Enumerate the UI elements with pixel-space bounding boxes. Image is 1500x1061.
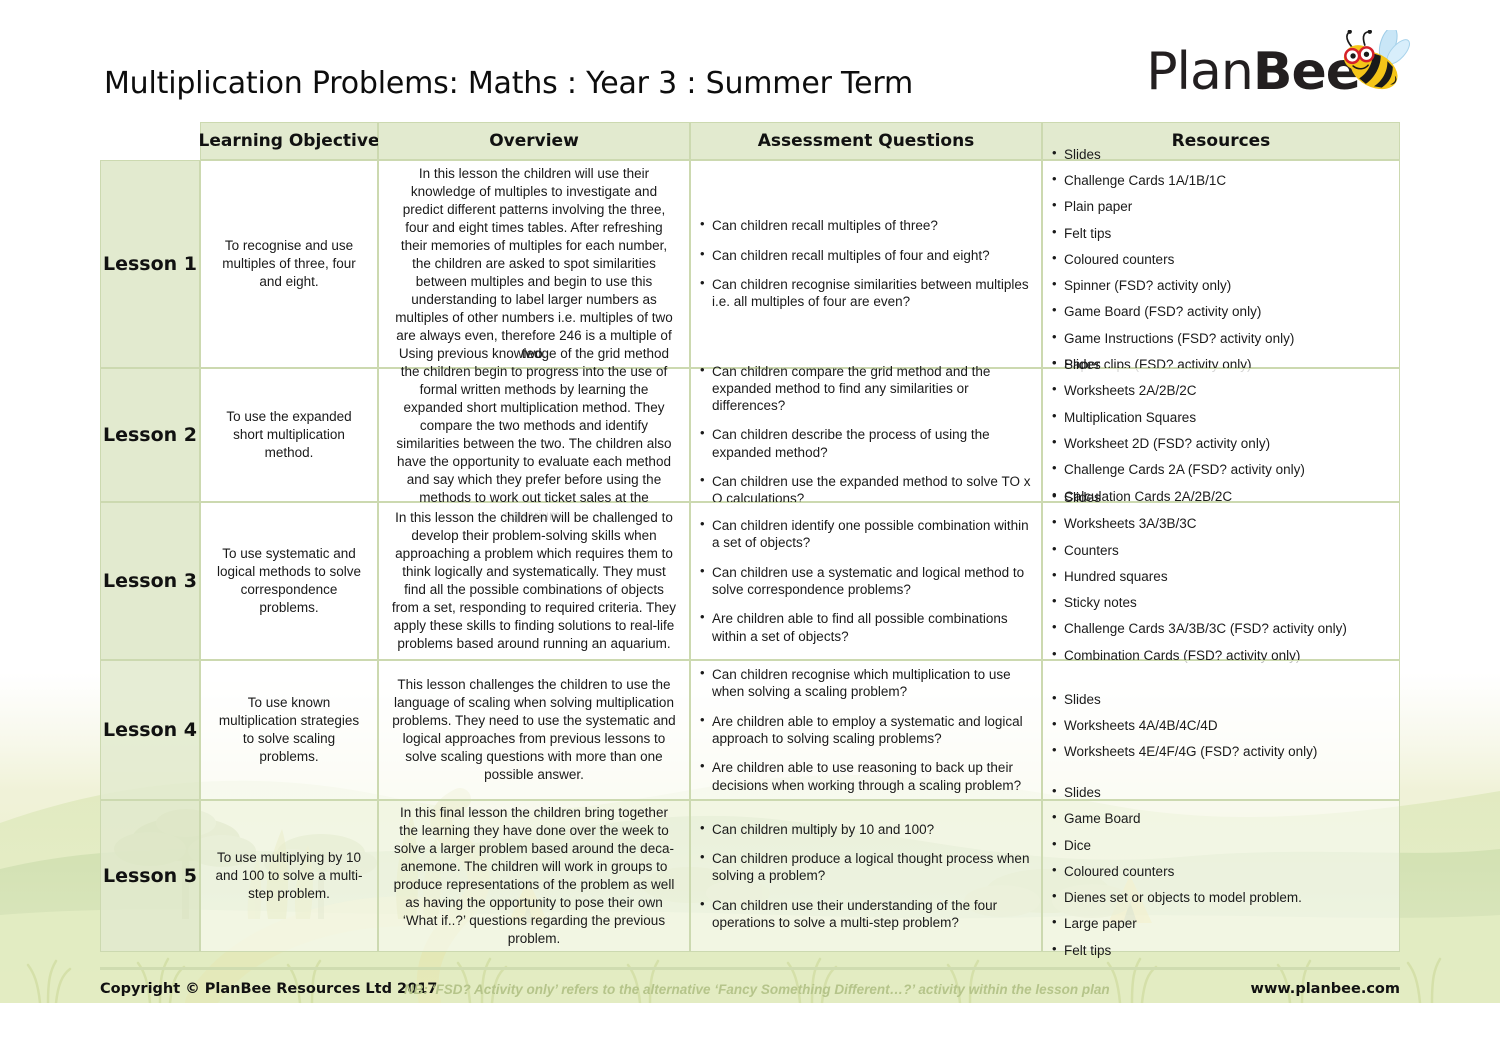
lesson-label: Lesson 5 — [103, 865, 197, 887]
overview-cell: In this lesson the children will use the… — [378, 160, 690, 368]
list-item: Dienes set or objects to model problem. — [1051, 889, 1389, 906]
list-item: Are children able to employ a systematic… — [699, 713, 1031, 748]
list-item: Slides — [1051, 489, 1389, 506]
list-item: Are children able to use reasoning to ba… — [699, 759, 1031, 794]
list-item: Worksheets 2A/2B/2C — [1051, 382, 1389, 399]
lesson-overview-table: Learning Objective Overview Assessment Q… — [100, 122, 1400, 952]
learning-objective-cell: To use known multiplication strategies t… — [200, 660, 378, 800]
table-row: Lesson 1 To recognise and use multiples … — [100, 160, 1400, 368]
resources-cell: Slides Worksheets 4A/4B/4C/4D Worksheets… — [1042, 660, 1400, 800]
lesson-label: Lesson 2 — [103, 424, 197, 446]
table-row: Lesson 5 To use multiplying by 10 and 10… — [100, 800, 1400, 952]
list-item: Sticky notes — [1051, 594, 1389, 611]
list-item: Can children use a systematic and logica… — [699, 564, 1031, 599]
copyright-text: Copyright © PlanBee Resources Ltd 2017 — [100, 981, 437, 997]
overview-cell: In this lesson the children will be chal… — [378, 502, 690, 660]
resources-list: Slides Worksheets 3A/3B/3C Counters Hund… — [1051, 489, 1389, 673]
list-item: Can children describe the process of usi… — [699, 426, 1031, 461]
lesson-number-cell: Lesson 2 — [100, 368, 200, 502]
resources-list: Slides Game Board Dice Coloured counters… — [1051, 784, 1389, 968]
page-footer: Copyright © PlanBee Resources Ltd 2017 N… — [0, 977, 1500, 1011]
overview-text: In this final lesson the children bring … — [391, 804, 677, 949]
overview-text: In this lesson the children will use the… — [391, 165, 677, 364]
table-row: Lesson 4 To use known multiplication str… — [100, 660, 1400, 800]
learning-objective-cell: To use systematic and logical methods to… — [200, 502, 378, 660]
list-item: Plain paper — [1051, 198, 1389, 215]
list-item: Coloured counters — [1051, 863, 1389, 880]
lesson-number-cell: Lesson 4 — [100, 660, 200, 800]
learning-objective-text: To use systematic and logical methods to… — [213, 545, 365, 617]
assessment-questions-cell: Can children identify one possible combi… — [690, 502, 1042, 660]
column-header-label: Overview — [489, 131, 579, 151]
assessment-questions-list: Can children recall multiples of three? … — [699, 217, 1031, 310]
resources-cell: Slides Challenge Cards 1A/1B/1C Plain pa… — [1042, 160, 1400, 368]
list-item: Slides — [1051, 784, 1389, 801]
list-item: Spinner (FSD? activity only) — [1051, 277, 1389, 294]
lesson-number-cell: Lesson 1 — [100, 160, 200, 368]
list-item: Game Board (FSD? activity only) — [1051, 303, 1389, 320]
list-item: Can children recognise which multiplicat… — [699, 666, 1031, 701]
list-item: Felt tips — [1051, 225, 1389, 242]
bee-icon — [1336, 30, 1412, 102]
page-title: Multiplication Problems: Maths : Year 3 … — [104, 66, 913, 101]
list-item: Challenge Cards 1A/1B/1C — [1051, 172, 1389, 189]
resources-cell: Slides Game Board Dice Coloured counters… — [1042, 800, 1400, 952]
learning-objective-cell: To recognise and use multiples of three,… — [200, 160, 378, 368]
planbee-logo: PlanBee — [1142, 30, 1412, 136]
overview-text: This lesson challenges the children to u… — [391, 676, 677, 784]
list-item: Can children multiply by 10 and 100? — [699, 821, 1031, 838]
resources-cell: Slides Worksheets 3A/3B/3C Counters Hund… — [1042, 502, 1400, 660]
page-header: Multiplication Problems: Maths : Year 3 … — [0, 58, 1500, 120]
learning-objective-cell: To use multiplying by 10 and 100 to solv… — [200, 800, 378, 952]
resources-cell: Slides Worksheets 2A/2B/2C Multiplicatio… — [1042, 368, 1400, 502]
overview-text: Using previous knowledge of the grid met… — [391, 345, 677, 526]
lesson-label: Lesson 1 — [103, 253, 197, 275]
column-header-learning-objective: Learning Objective — [200, 122, 378, 160]
list-item: Slides — [1051, 691, 1389, 708]
lesson-plan-page: Multiplication Problems: Maths : Year 3 … — [0, 0, 1500, 1061]
list-item: Hundred squares — [1051, 568, 1389, 585]
fsd-note-text: NB: ‘FSD? Activity only’ refers to the a… — [404, 982, 1110, 997]
list-item: Dice — [1051, 837, 1389, 854]
header-spacer-cell — [100, 122, 200, 160]
lesson-label: Lesson 4 — [103, 719, 197, 741]
list-item: Worksheet 2D (FSD? activity only) — [1051, 435, 1389, 452]
table-row: Lesson 2 To use the expanded short multi… — [100, 368, 1400, 502]
logo-text-plan: Plan — [1146, 42, 1253, 102]
list-item: Worksheets 4A/4B/4C/4D — [1051, 717, 1389, 734]
column-header-overview: Overview — [378, 122, 690, 160]
resources-list: Slides Challenge Cards 1A/1B/1C Plain pa… — [1051, 146, 1389, 382]
list-item: Can children recall multiples of four an… — [699, 247, 1031, 264]
overview-cell: In this final lesson the children bring … — [378, 800, 690, 952]
assessment-questions-cell: Can children compare the grid method and… — [690, 368, 1042, 502]
list-item: Can children recognise similarities betw… — [699, 276, 1031, 311]
overview-text: In this lesson the children will be chal… — [391, 509, 677, 654]
list-item: Challenge Cards 2A (FSD? activity only) — [1051, 461, 1389, 478]
lesson-number-cell: Lesson 3 — [100, 502, 200, 660]
assessment-questions-list: Can children compare the grid method and… — [699, 363, 1031, 508]
list-item: Counters — [1051, 542, 1389, 559]
list-item: Challenge Cards 3A/3B/3C (FSD? activity … — [1051, 620, 1389, 637]
assessment-questions-cell: Can children recognise which multiplicat… — [690, 660, 1042, 800]
assessment-questions-list: Can children recognise which multiplicat… — [699, 666, 1031, 794]
list-item: Game Instructions (FSD? activity only) — [1051, 330, 1389, 347]
resources-list: Slides Worksheets 4A/4B/4C/4D Worksheets… — [1051, 691, 1389, 770]
list-item: Can children recall multiples of three? — [699, 217, 1031, 234]
list-item: Slides — [1051, 146, 1389, 163]
list-item: Are children able to find all possible c… — [699, 610, 1031, 645]
list-item: Can children identify one possible combi… — [699, 517, 1031, 552]
assessment-questions-cell: Can children multiply by 10 and 100? Can… — [690, 800, 1042, 952]
assessment-questions-list: Can children multiply by 10 and 100? Can… — [699, 821, 1031, 931]
list-item: Large paper — [1051, 915, 1389, 932]
list-item: Can children compare the grid method and… — [699, 363, 1031, 415]
learning-objective-text: To recognise and use multiples of three,… — [213, 237, 365, 291]
list-item: Game Board — [1051, 810, 1389, 827]
column-header-assessment-questions: Assessment Questions — [690, 122, 1042, 160]
list-item: Worksheets 4E/4F/4G (FSD? activity only) — [1051, 743, 1389, 760]
list-item: Multiplication Squares — [1051, 409, 1389, 426]
learning-objective-text: To use multiplying by 10 and 100 to solv… — [213, 849, 365, 903]
learning-objective-text: To use known multiplication strategies t… — [213, 694, 365, 766]
column-header-label: Learning Objective — [199, 131, 380, 151]
lesson-number-cell: Lesson 5 — [100, 800, 200, 952]
website-link[interactable]: www.planbee.com — [1251, 981, 1400, 997]
assessment-questions-list: Can children identify one possible combi… — [699, 517, 1031, 645]
learning-objective-cell: To use the expanded short multiplication… — [200, 368, 378, 502]
column-header-label: Assessment Questions — [758, 131, 975, 151]
planbee-wordmark: PlanBee — [1146, 46, 1360, 98]
learning-objective-text: To use the expanded short multiplication… — [213, 408, 365, 462]
list-item: Slides — [1051, 356, 1389, 373]
list-item: Felt tips — [1051, 942, 1389, 959]
overview-cell: This lesson challenges the children to u… — [378, 660, 690, 800]
table-row: Lesson 3 To use systematic and logical m… — [100, 502, 1400, 660]
footer-divider — [100, 967, 1400, 970]
list-item: Can children produce a logical thought p… — [699, 850, 1031, 885]
assessment-questions-cell: Can children recall multiples of three? … — [690, 160, 1042, 368]
lesson-label: Lesson 3 — [103, 570, 197, 592]
overview-cell: Using previous knowledge of the grid met… — [378, 368, 690, 502]
list-item: Coloured counters — [1051, 251, 1389, 268]
list-item: Worksheets 3A/3B/3C — [1051, 515, 1389, 532]
list-item: Can children use their understanding of … — [699, 897, 1031, 932]
